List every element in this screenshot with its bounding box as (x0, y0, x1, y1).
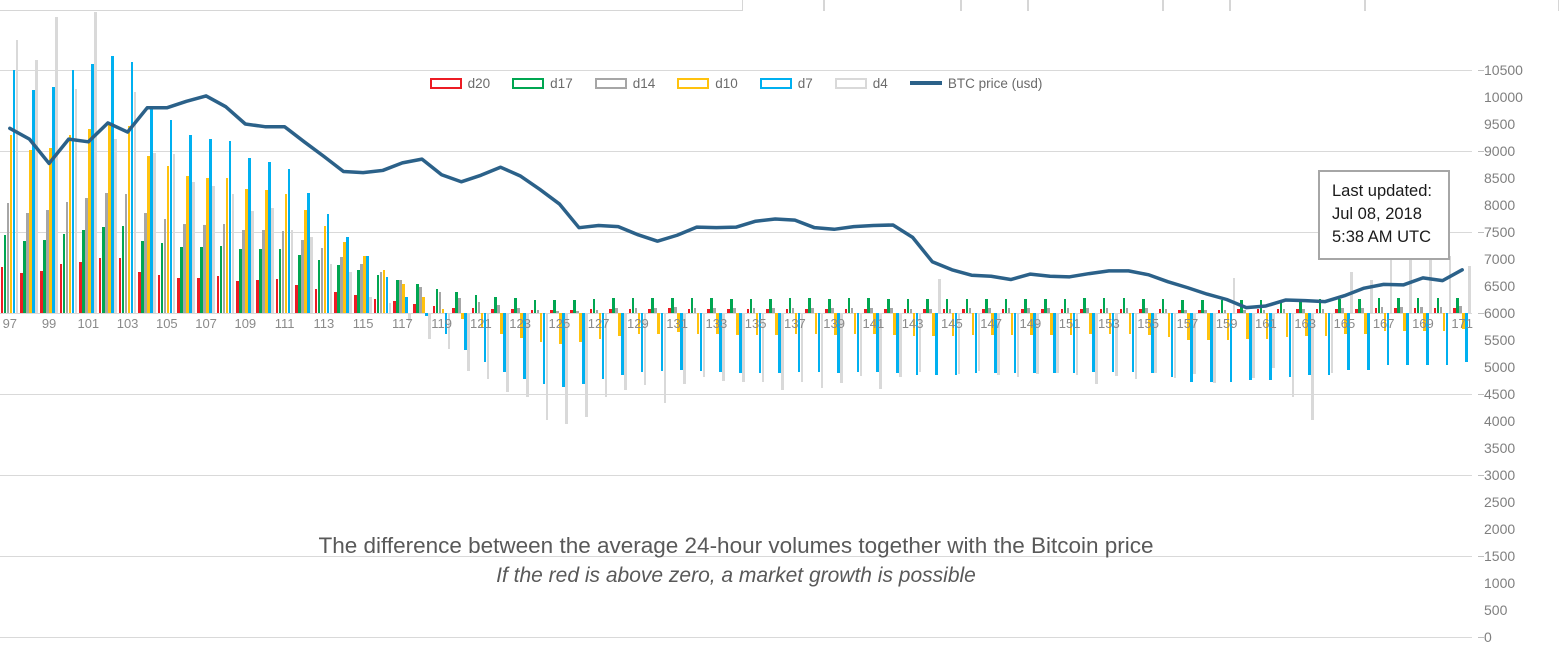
y-axis-tick-label: 500 (1484, 603, 1507, 617)
y-axis-tick-label: 4000 (1484, 414, 1515, 428)
last-updated-callout: Last updated: Jul 08, 2018 5:38 AM UTC (1318, 170, 1450, 260)
spreadsheet-cell[interactable] (824, 0, 961, 11)
y-axis-tick-mark (1478, 151, 1484, 152)
spreadsheet-row-strip (0, 0, 1559, 12)
bitcoin-volume-difference-chart: d20d17d14d10d7d4BTC price (usd) 97991011… (0, 12, 1559, 655)
spreadsheet-cell[interactable] (742, 0, 824, 11)
spreadsheet-cell[interactable] (961, 0, 1028, 11)
y-axis-tick-label: 3500 (1484, 441, 1515, 455)
y-axis-tick-label: 5000 (1484, 360, 1515, 374)
spreadsheet-cell[interactable] (1365, 0, 1559, 11)
y-axis-labels: 1050010000950090008500800075007000650060… (1478, 59, 1556, 638)
y-axis-tick-label: 4500 (1484, 387, 1515, 401)
y-axis-tick-label: 7500 (1484, 225, 1515, 239)
y-axis-tick-label: 6500 (1484, 279, 1515, 293)
y-axis-tick-label: 9500 (1484, 117, 1515, 131)
chart-page: d20d17d14d10d7d4BTC price (usd) 97991011… (0, 0, 1559, 655)
y-axis-tick-label: 6000 (1484, 306, 1515, 320)
y-axis-tick-label: 3000 (1484, 468, 1515, 482)
plot-area: 9799101103105107109111113115117119121123… (0, 59, 1472, 638)
y-axis-tick-mark (1478, 637, 1484, 638)
y-axis-tick-mark (1478, 70, 1484, 71)
btc-price-line (0, 59, 1472, 638)
y-axis-tick-label: 8000 (1484, 198, 1515, 212)
y-axis-tick-label: 8500 (1484, 171, 1515, 185)
callout-line-1: Last updated: (1332, 180, 1438, 203)
y-axis-tick-label: 5500 (1484, 333, 1515, 347)
y-axis-tick-mark (1478, 394, 1484, 395)
y-axis-tick-mark (1478, 232, 1484, 233)
y-axis-tick-label: 2500 (1484, 495, 1515, 509)
y-axis-tick-mark (1478, 475, 1484, 476)
spreadsheet-cell[interactable] (1230, 0, 1365, 11)
spreadsheet-cell[interactable] (1028, 0, 1163, 11)
y-axis-tick-label: 7000 (1484, 252, 1515, 266)
y-axis-tick-label: 10500 (1484, 63, 1523, 77)
y-axis-tick-label: 0 (1484, 630, 1492, 644)
callout-line-3: 5:38 AM UTC (1332, 226, 1438, 249)
spreadsheet-cell[interactable] (1163, 0, 1230, 11)
y-axis-tick-mark (1478, 556, 1484, 557)
y-axis-tick-label: 1000 (1484, 576, 1515, 590)
y-axis-tick-label: 2000 (1484, 522, 1515, 536)
y-axis-tick-label: 10000 (1484, 90, 1523, 104)
y-axis-tick-label: 1500 (1484, 549, 1515, 563)
callout-line-2: Jul 08, 2018 (1332, 203, 1438, 226)
y-axis-tick-mark (1478, 313, 1484, 314)
y-axis-tick-label: 9000 (1484, 144, 1515, 158)
